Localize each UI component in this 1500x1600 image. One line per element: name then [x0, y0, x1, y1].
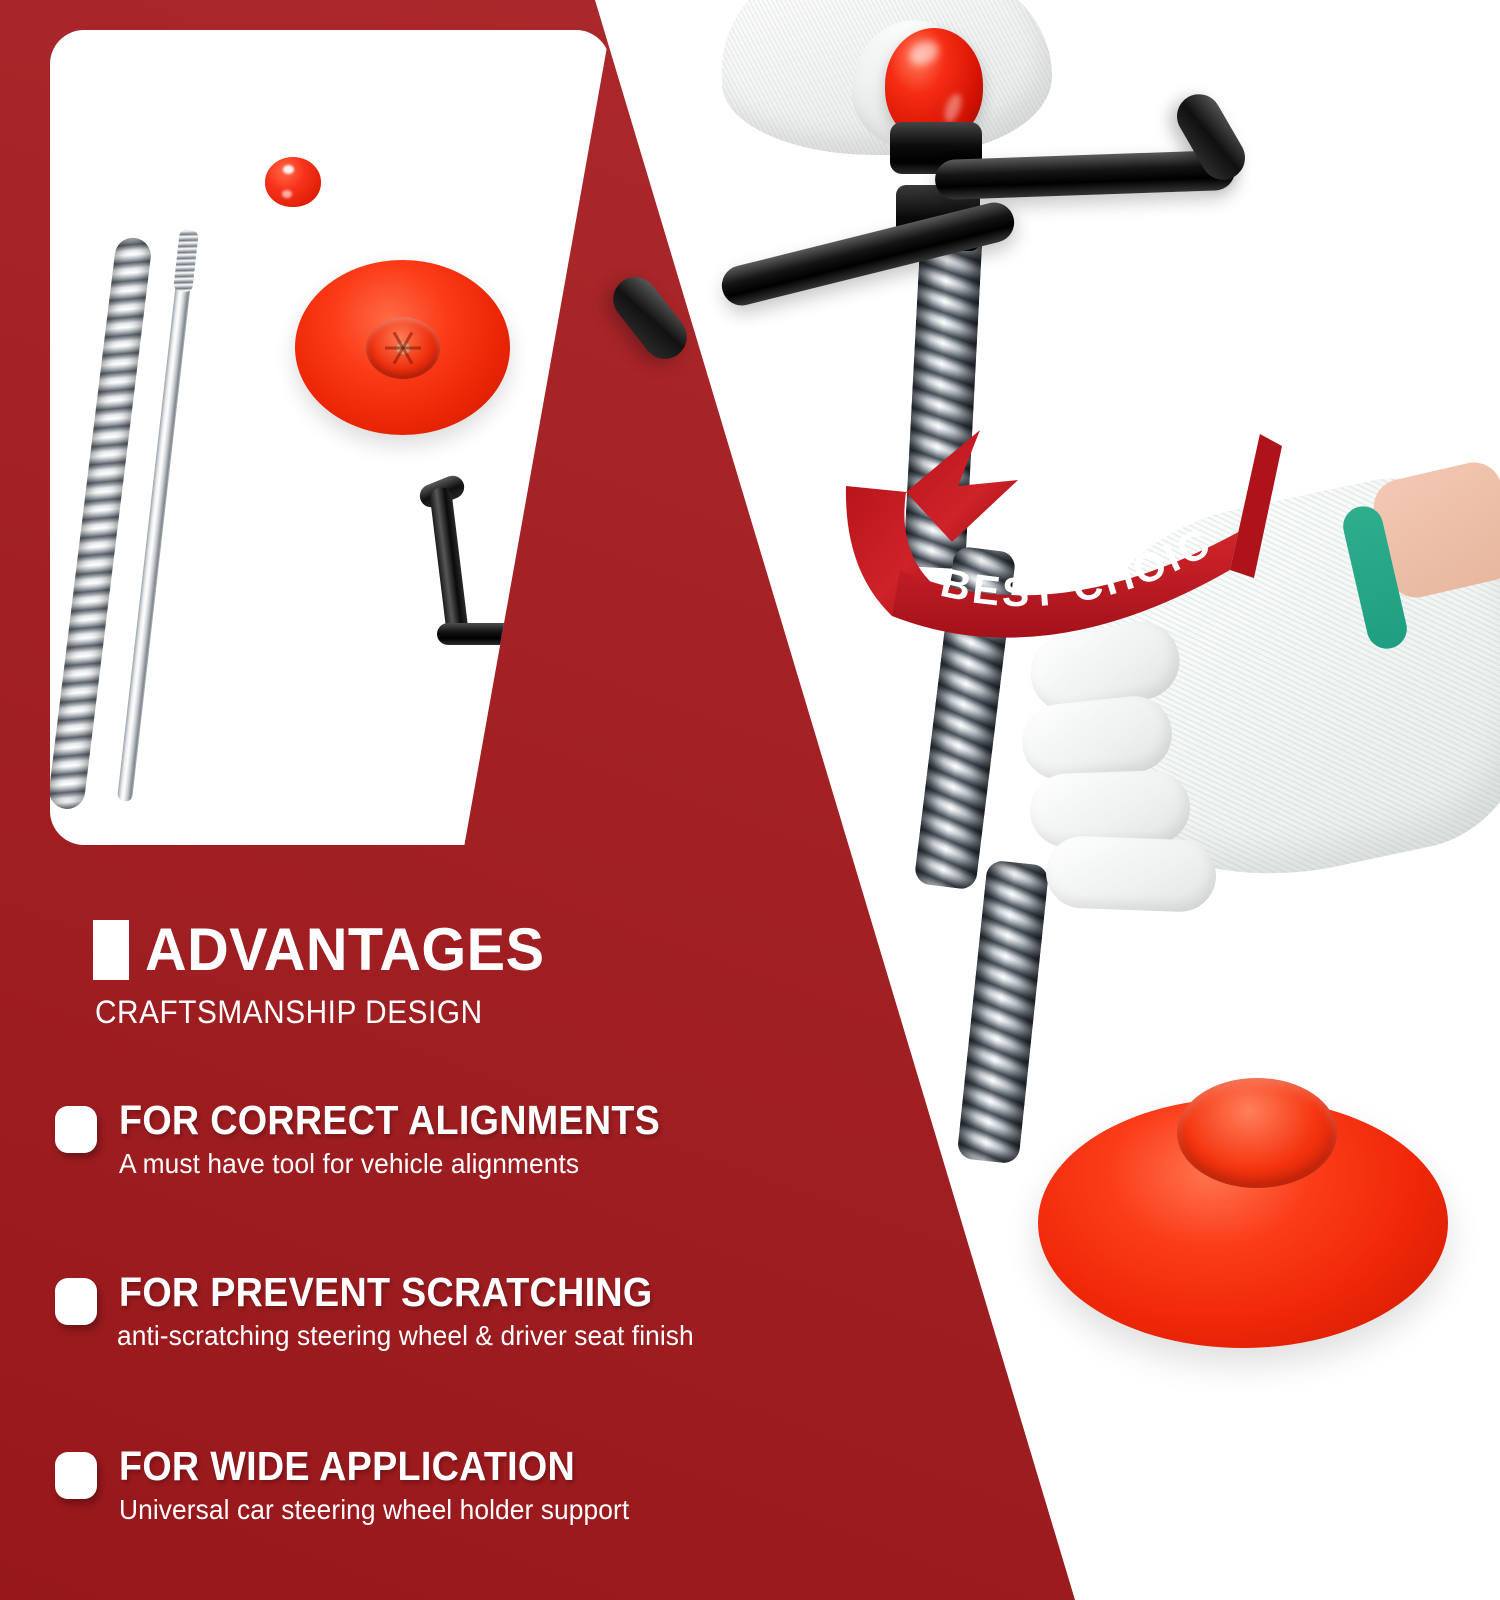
- feature-description: anti-scratching steering wheel & driver …: [117, 1320, 694, 1352]
- red-suction-cup-part-icon: [295, 260, 510, 435]
- cross-handle-bar: [590, 160, 1250, 202]
- red-suction-cup: [1038, 1098, 1448, 1348]
- product-photo: BEST CHOICE: [560, 0, 1500, 1600]
- feature-item-scratching: FOR PREVENT SCRATCHING anti-scratching s…: [55, 1272, 731, 1352]
- page-subtitle: CRAFTSMANSHIP DESIGN: [95, 994, 528, 1031]
- heading-marker-bar: [93, 920, 129, 980]
- feature-title: FOR CORRECT ALIGNMENTS: [119, 1100, 660, 1142]
- bullet-box-icon: [55, 1452, 97, 1499]
- infographic-page: BEST CHOICE ADVANTAGES CRAFTSMANSHIP DES…: [0, 0, 1500, 1600]
- page-title: ADVANTAGES: [145, 920, 544, 980]
- advantages-heading-block: ADVANTAGES CRAFTSMANSHIP DESIGN: [93, 920, 561, 1031]
- glove-finger: [1045, 835, 1217, 913]
- feature-item-alignments: FOR CORRECT ALIGNMENTS A must have tool …: [55, 1100, 707, 1180]
- bullet-box-icon: [55, 1278, 97, 1325]
- feature-description: A must have tool for vehicle alignments: [119, 1148, 672, 1180]
- feature-title: FOR WIDE APPLICATION: [119, 1446, 618, 1488]
- screw-shaft-lower: [956, 860, 1049, 1165]
- red-ball-knob-part-icon: [265, 157, 321, 207]
- feature-title: FOR PREVENT SCRATCHING: [119, 1272, 682, 1314]
- bullet-box-icon: [55, 1106, 97, 1153]
- best-choice-ribbon: BEST CHOICE: [830, 420, 1270, 650]
- feature-description: Universal car steering wheel holder supp…: [119, 1494, 629, 1526]
- feature-item-application: FOR WIDE APPLICATION Universal car steer…: [55, 1446, 662, 1526]
